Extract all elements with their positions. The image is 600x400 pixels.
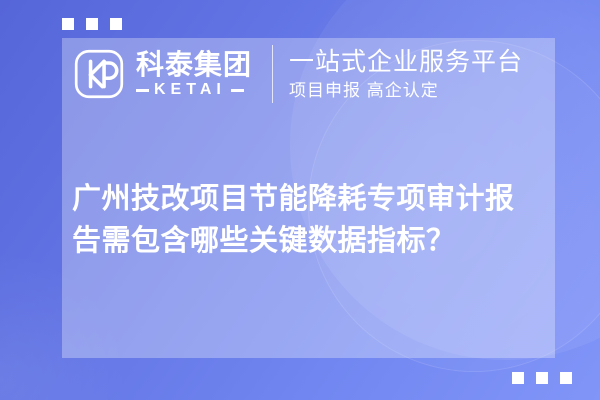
square-dot-icon [512,372,524,384]
ketai-kp-monogram-icon [72,47,126,101]
promo-banner: 科泰集团 KETAI 一站式企业服务平台 项目申报 高企认定 广州技改项目节能降… [0,0,600,400]
square-dot-icon [560,372,572,384]
corner-squares-top-left [62,18,122,30]
brand-wordmark: 科泰集团 KETAI [136,50,252,98]
square-dot-icon [536,372,548,384]
square-dot-icon [86,18,98,30]
banner-header: 科泰集团 KETAI 一站式企业服务平台 项目申报 高企认定 [72,38,552,110]
brand-logo: 科泰集团 KETAI [72,47,252,101]
brand-tagline: 一站式企业服务平台 项目申报 高企认定 [289,47,523,101]
brand-name-en-row: KETAI [136,82,252,98]
banner-title: 广州技改项目节能降耗专项审计报告需包含哪些关键数据指标？ [72,179,542,261]
square-dot-icon [110,18,122,30]
corner-squares-bottom-right [512,372,572,384]
dash-left-icon [136,89,149,92]
brand-name-en: KETAI [154,82,226,98]
tagline-secondary: 项目申报 高企认定 [289,80,523,101]
tagline-primary: 一站式企业服务平台 [289,47,523,77]
dash-right-icon [231,89,244,92]
brand-name-cn: 科泰集团 [136,50,252,79]
header-divider [272,45,273,103]
square-dot-icon [62,18,74,30]
